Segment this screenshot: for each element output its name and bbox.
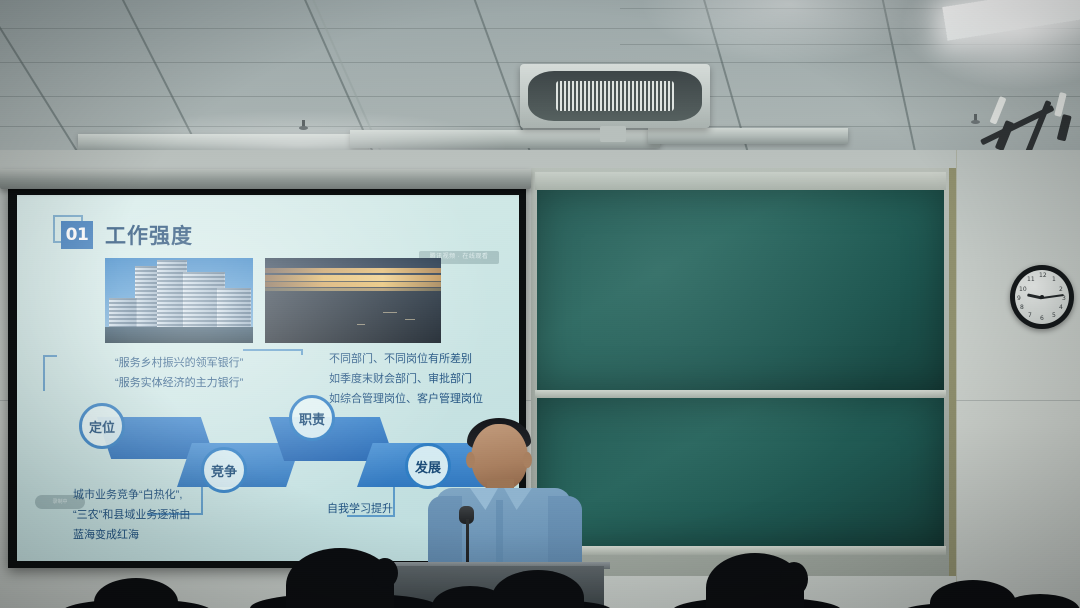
node-label: 定位 [89, 417, 115, 436]
node-label: 职责 [299, 409, 325, 428]
text-duties-line-1: 不同部门、不同岗位有所差别 [329, 351, 472, 368]
office-tower-photo [105, 258, 253, 343]
connector-positioning [43, 355, 57, 391]
clock-minute-hand [1042, 294, 1064, 299]
node-label: 发展 [415, 457, 441, 476]
clock-number: 2 [1059, 286, 1063, 293]
text-competition-line-1: 城市业务竞争“白热化”, [73, 487, 182, 504]
text-duties-line-2: 如季度末财会部门、审批部门 [329, 371, 472, 388]
clock-number: 1 [1052, 276, 1056, 283]
lecture-hall-photo: 12 1 2 3 4 5 6 7 8 9 10 11 01 工作强度 腾讯视频 … [0, 0, 1080, 608]
slide-title: 工作强度 [105, 220, 193, 250]
clock-number: 6 [1040, 315, 1044, 322]
node-positioning: 定位 [79, 403, 125, 449]
text-positioning-line-2: “服务实体经济的主力银行” [115, 375, 243, 392]
connector-duties [243, 349, 303, 355]
node-competition: 竞争 [201, 447, 247, 493]
clock-number: 4 [1059, 304, 1063, 311]
wall-clock: 12 1 2 3 4 5 6 7 8 9 10 11 [1010, 265, 1074, 329]
text-positioning-line-1: “服务乡村振兴的领军银行” [115, 355, 243, 372]
projector-screen-housing [0, 169, 531, 189]
green-chalkboard [531, 168, 956, 576]
clock-number: 12 [1039, 272, 1047, 279]
text-competition-line-3: 蓝海变成红海 [73, 527, 139, 544]
dusk-cityscape-photo [265, 258, 441, 343]
clock-number: 8 [1020, 304, 1024, 311]
node-development: 发展 [405, 443, 451, 489]
text-competition-line-2: “三农”和县域业务逐渐由 [73, 507, 190, 524]
node-label: 竞争 [211, 461, 237, 480]
section-number-badge: 01 [61, 221, 93, 249]
ac-drop-box [600, 126, 626, 142]
clock-number: 10 [1019, 286, 1027, 293]
clock-number: 5 [1052, 312, 1056, 319]
clock-number: 9 [1017, 295, 1021, 302]
text-development-line-1: 自我学习提升 [327, 501, 393, 518]
text-duties-line-3: 如综合管理岗位、客户管理岗位 [329, 391, 483, 408]
clock-number: 7 [1028, 312, 1032, 319]
fire-sprinkler-head [299, 120, 308, 132]
ceiling-air-conditioner-vent [520, 64, 710, 128]
clock-number: 11 [1027, 276, 1035, 283]
